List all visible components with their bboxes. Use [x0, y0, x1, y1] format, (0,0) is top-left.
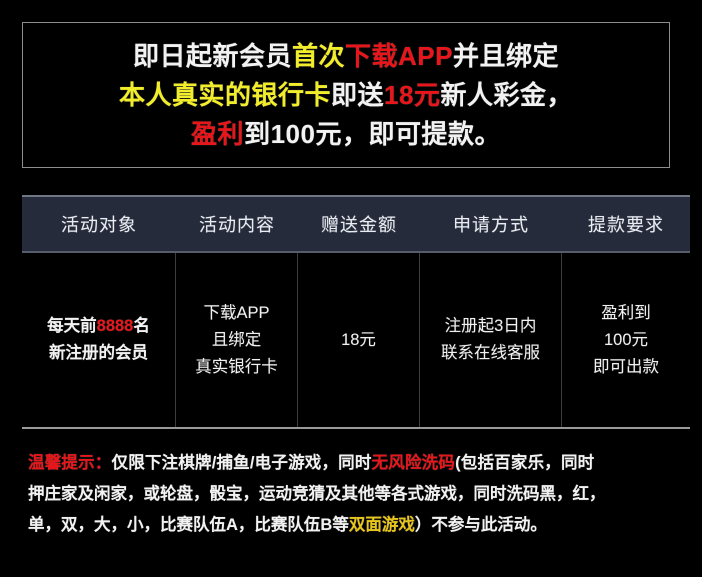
headline-l2-seg-3: 18元 [384, 80, 440, 110]
table-cell-withdrawal-requirement: 盈利到 100元 即可出款 [562, 253, 690, 427]
terms-l3-seg-1: 单，双，大，小，比赛队伍A，比赛队伍B等 [28, 516, 349, 534]
content-line-3: 真实银行卡 [195, 358, 278, 376]
content-line-2: 且绑定 [212, 331, 262, 349]
headline-box: 即日起新会员首次下载APP并且绑定 本人真实的银行卡即送18元新人彩金， 盈利到… [22, 22, 670, 168]
withdrawal-line-2: 100元 [604, 331, 648, 349]
headline-l1-seg-4: 并且绑定 [453, 41, 559, 71]
table-header-activity-content: 活动内容 [176, 197, 298, 251]
bonus-amount-value: 18元 [341, 331, 376, 349]
table-header-withdrawal-requirement: 提款要求 [562, 197, 690, 251]
terms-l2-seg-1: 押庄家及闲家，或轮盘，骰宝，运动竞猜及其他等各式游戏，同时洗码黑，红， [28, 485, 606, 503]
headline-l3-seg-1: 盈利 [191, 119, 244, 149]
table-row: 每天前8888名 新注册的会员 下载APP 且绑定 真实银行卡 18元 注册起3… [22, 253, 690, 429]
table-header-row: 活动对象 活动内容 赠送金额 申请方式 提款要求 [22, 195, 690, 253]
content-line-1: 下载APP [203, 304, 269, 322]
terms-l3-seg-3: ）不参与此活动。 [415, 516, 547, 534]
application-line-1: 注册起3日内 [445, 317, 537, 335]
headline-l1-seg-2: 首次 [292, 41, 345, 71]
headline-l1-seg-1: 即日起新会员 [133, 41, 292, 71]
table-header-bonus-amount: 赠送金额 [298, 197, 420, 251]
terms-l1-seg-2: 仅限下注棋牌/捕鱼/电子游戏，同时 [112, 454, 372, 472]
withdrawal-line-3: 即可出款 [593, 358, 659, 376]
table-cell-application-method: 注册起3日内 联系在线客服 [420, 253, 562, 427]
terms-l1-seg-4: (包括百家乐，同时 [455, 454, 594, 472]
terms-l3-highlight: 双面游戏 [349, 516, 415, 534]
target-prefix: 每天前 [47, 317, 97, 335]
application-line-2: 联系在线客服 [441, 344, 540, 362]
table-header-application-method: 申请方式 [420, 197, 562, 251]
headline-l3-seg-2: 到100元，即可提款。 [244, 119, 501, 149]
headline-l2-seg-4: 新人彩金， [440, 80, 573, 110]
target-suffix: 名 [133, 317, 150, 335]
terms-note: 温馨提示：仅限下注棋牌/捕鱼/电子游戏，同时无风险洗码(包括百家乐，同时 押庄家… [28, 448, 678, 541]
terms-line-2: 押庄家及闲家，或轮盘，骰宝，运动竞猜及其他等各式游戏，同时洗码黑，红， [28, 479, 678, 510]
terms-label: 温馨提示： [28, 454, 112, 472]
headline-line-3: 盈利到100元，即可提款。 [191, 115, 501, 154]
table-cell-bonus-amount: 18元 [298, 253, 420, 427]
terms-line-3: 单，双，大，小，比赛队伍A，比赛队伍B等双面游戏）不参与此活动。 [28, 510, 678, 541]
headline-l1-seg-3: 下载APP [345, 41, 453, 71]
table-header-activity-target: 活动对象 [22, 197, 176, 251]
target-line-2: 新注册的会员 [49, 344, 148, 362]
promo-banner-page: 即日起新会员首次下载APP并且绑定 本人真实的银行卡即送18元新人彩金， 盈利到… [0, 0, 702, 577]
headline-l2-seg-2: 即送 [331, 80, 384, 110]
withdrawal-line-1: 盈利到 [601, 304, 651, 322]
headline-line-2: 本人真实的银行卡即送18元新人彩金， [119, 76, 573, 115]
target-count: 8888 [97, 317, 134, 335]
terms-l1-highlight: 无风险洗码 [372, 454, 456, 472]
promotion-table: 活动对象 活动内容 赠送金额 申请方式 提款要求 每天前8888名 新注册的会员… [22, 195, 690, 429]
headline-l2-seg-1: 本人真实的银行卡 [119, 80, 331, 110]
table-cell-activity-target: 每天前8888名 新注册的会员 [22, 253, 176, 427]
terms-line-1: 温馨提示：仅限下注棋牌/捕鱼/电子游戏，同时无风险洗码(包括百家乐，同时 [28, 448, 678, 479]
headline-line-1: 即日起新会员首次下载APP并且绑定 [133, 37, 559, 76]
table-cell-activity-content: 下载APP 且绑定 真实银行卡 [176, 253, 298, 427]
